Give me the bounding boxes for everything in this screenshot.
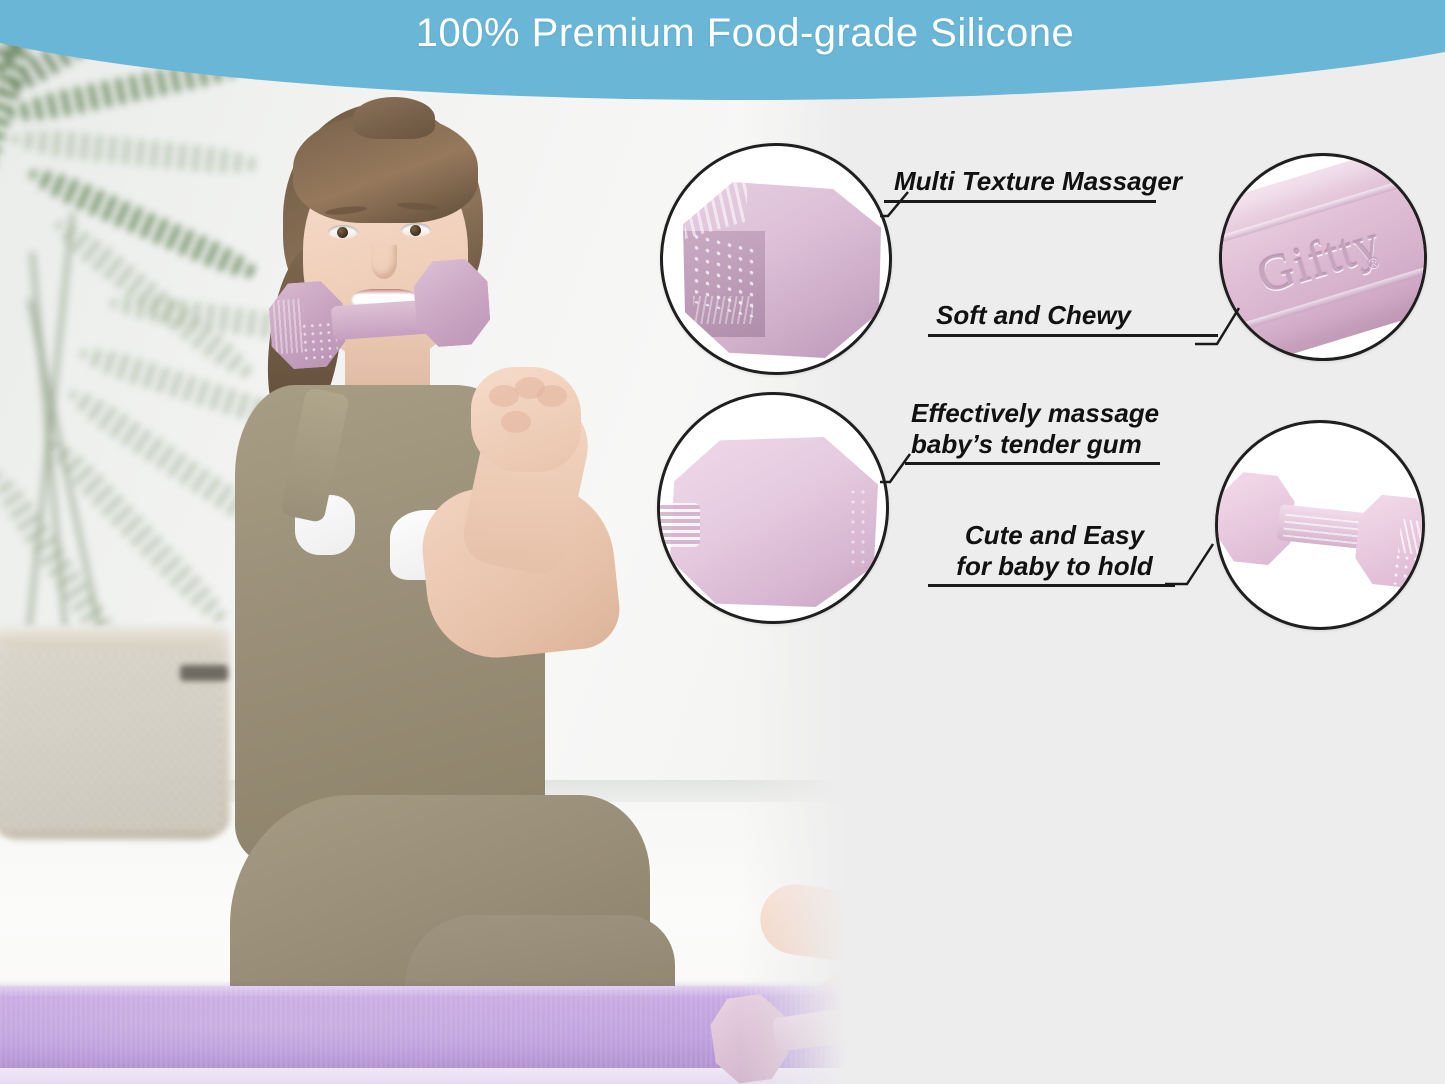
circle-whole-dumbbell[interactable] (1215, 420, 1425, 630)
dumbbell-in-hand (266, 257, 493, 382)
woman-hair-bun (353, 97, 435, 139)
callout-cute-and-easy-to-hold: Cute and Easy for baby to hold (928, 520, 1175, 587)
callout-soft-and-chewy: Soft and Chewy (928, 300, 1218, 337)
callout-line-1: Cute and Easy (928, 520, 1175, 551)
woman (175, 95, 735, 1055)
callout-line-1: Multi Texture Massager (884, 166, 1182, 197)
callout-rule (928, 334, 1218, 337)
woman-eye-left (328, 225, 358, 239)
callout-line-1: Soft and Chewy (928, 300, 1218, 331)
callout-effectively-massage-gum: Effectively massage baby’s tender gum (905, 398, 1160, 465)
banner-title: 100% Premium Food-grade Silicone (0, 11, 1445, 56)
callout-multi-texture-massager: Multi Texture Massager (884, 166, 1182, 203)
callout-line-1: Effectively massage (905, 398, 1160, 429)
woman-hand (471, 367, 581, 472)
texture-zigzag (693, 296, 753, 324)
callout-line-2: for baby to hold (928, 551, 1175, 582)
edge-dots (848, 487, 868, 565)
woman-eye-right (401, 223, 431, 237)
circle-brand-logo[interactable]: Giftty ® (1219, 153, 1427, 361)
dumbbell-end-right (412, 257, 492, 348)
grip-ridges (657, 503, 700, 547)
callout-rule (928, 584, 1175, 587)
callout-rule (884, 200, 1156, 203)
circle-textured-hex-end[interactable] (660, 143, 892, 375)
circle-smooth-hex-end[interactable] (657, 392, 889, 624)
whole-dumbbell-end-right (1353, 493, 1425, 590)
product-infographic: 100% Premium Food-grade Silicone (0, 0, 1445, 1084)
callout-rule (905, 462, 1160, 465)
callout-line-2: baby’s tender gum (905, 429, 1160, 460)
